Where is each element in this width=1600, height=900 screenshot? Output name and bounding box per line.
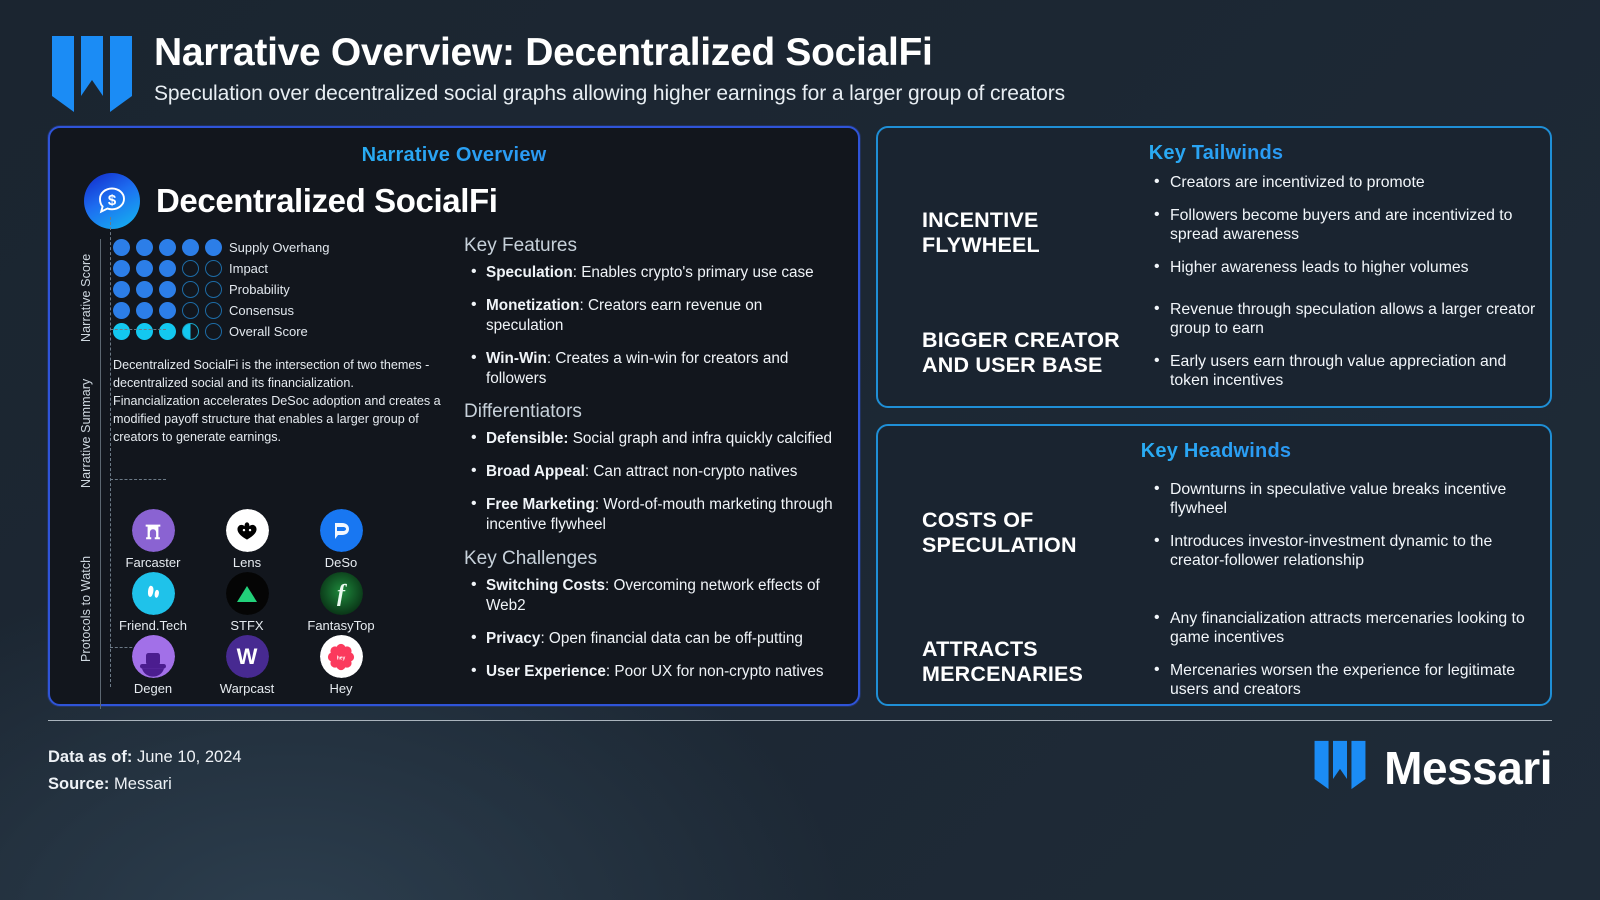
wind-term: COSTS OF SPECULATION <box>896 508 1146 558</box>
wind-term: BIGGER CREATOR AND USER BASE <box>896 328 1146 378</box>
key-headwinds-panel: Key Headwinds COSTS OF SPECULATIONDowntu… <box>876 424 1552 706</box>
feature-list: Speculation: Enables crypto's primary us… <box>464 263 842 388</box>
data-as-of-value: June 10, 2024 <box>137 748 242 766</box>
wind-row: ATTRACTS MERCENARIESAny financialization… <box>896 601 1536 723</box>
rail-connector-lines <box>110 217 180 687</box>
wind-point: Higher awareness leads to higher volumes <box>1150 259 1536 278</box>
narrative-rail: Narrative Score Supply OverhangImpactPro… <box>66 235 452 721</box>
feature-group: DifferentiatorsDefensible: Social graph … <box>464 401 842 535</box>
feature-list-item: Switching Costs: Overcoming network effe… <box>464 576 842 616</box>
feature-group-heading: Differentiators <box>464 401 842 423</box>
score-label: Overall Score <box>229 324 308 339</box>
feature-list: Defensible: Social graph and infra quick… <box>464 429 842 535</box>
footer-meta: Data as of: June 10, 2024 Source: Messar… <box>48 748 242 802</box>
page-subtitle: Speculation over decentralized social gr… <box>154 82 1065 106</box>
score-dot <box>182 323 199 340</box>
protocol-item[interactable]: WWarpcast <box>207 635 287 696</box>
protocol-item[interactable]: heyHey <box>301 635 381 696</box>
feature-term: Win-Win <box>486 350 547 367</box>
content-board: Narrative Overview $ Decentralized Socia… <box>0 126 1600 706</box>
score-label: Supply Overhang <box>229 240 329 255</box>
data-as-of-line: Data as of: June 10, 2024 <box>48 748 242 767</box>
feature-group-heading: Key Challenges <box>464 548 842 570</box>
svg-text:$: $ <box>108 192 117 209</box>
friendtech-icon <box>132 572 175 615</box>
narrative-score-rail-label: Narrative Score <box>76 239 96 357</box>
feature-group: Key FeaturesSpeculation: Enables crypto'… <box>464 235 842 388</box>
wind-term: ATTRACTS MERCENARIES <box>896 637 1146 687</box>
protocol-item[interactable]: fFantasyTop <box>301 572 381 633</box>
wind-points-list: Any financialization attracts mercenarie… <box>1146 610 1536 714</box>
feature-group: Key ChallengesSwitching Costs: Overcomin… <box>464 548 842 682</box>
feature-list-item: Free Marketing: Word-of-mouth marketing … <box>464 495 842 535</box>
feature-text: : Open financial data can be off-putting <box>540 630 803 647</box>
wind-row: BIGGER CREATOR AND USER BASERevenue thro… <box>896 299 1536 407</box>
score-dot <box>182 281 199 298</box>
winds-column: Key Tailwinds INCENTIVE FLYWHEELCreators… <box>876 126 1552 706</box>
narrative-summary-rail-label: Narrative Summary <box>76 357 96 509</box>
narrative-body: Narrative Score Supply OverhangImpactPro… <box>66 235 842 721</box>
wind-points-list: Downturns in speculative value breaks in… <box>1146 481 1536 585</box>
narrative-name: Decentralized SocialFi <box>156 182 498 220</box>
feature-term: Broad Appeal <box>486 463 585 480</box>
feature-text: Social graph and infra quickly calcified <box>568 430 832 447</box>
narrative-feature-groups: Key FeaturesSpeculation: Enables crypto'… <box>456 235 842 721</box>
stfx-icon <box>226 572 269 615</box>
feature-text: : Enables crypto's primary use case <box>573 264 814 281</box>
feature-list-item: Monetization: Creators earn revenue on s… <box>464 296 842 336</box>
protocol-item[interactable]: DeSo <box>301 509 381 570</box>
score-dot <box>205 281 222 298</box>
protocol-name: Warpcast <box>220 681 274 696</box>
score-dot <box>205 302 222 319</box>
score-label: Probability <box>229 282 290 297</box>
key-headwinds-rows: COSTS OF SPECULATIONDownturns in specula… <box>896 465 1536 723</box>
messari-brand: Messari <box>1310 737 1552 798</box>
feature-list-item: Speculation: Enables crypto's primary us… <box>464 263 842 283</box>
score-dot <box>205 260 222 277</box>
key-tailwinds-rows: INCENTIVE FLYWHEELCreators are incentivi… <box>896 167 1536 407</box>
score-dot <box>205 239 222 256</box>
feature-term: Speculation <box>486 264 573 281</box>
source-line: Source: Messari <box>48 775 242 794</box>
lens-icon <box>226 509 269 552</box>
narrative-overview-panel: Narrative Overview $ Decentralized Socia… <box>48 126 860 706</box>
score-dot <box>182 239 199 256</box>
feature-list-item: Defensible: Social graph and infra quick… <box>464 429 842 449</box>
feature-term: Switching Costs <box>486 577 605 594</box>
narrative-overview-column: Narrative Overview $ Decentralized Socia… <box>48 126 860 706</box>
wind-point: Mercenaries worsen the experience for le… <box>1150 662 1536 700</box>
degen-icon <box>132 635 175 678</box>
page-title: Narrative Overview: Decentralized Social… <box>154 32 1065 74</box>
wind-row: INCENTIVE FLYWHEELCreators are incentivi… <box>896 167 1536 299</box>
wind-point: Any financialization attracts mercenarie… <box>1150 610 1536 648</box>
protocols-rail-label: Protocols to Watch <box>76 509 96 709</box>
protocol-name: DeSo <box>325 555 358 570</box>
score-label: Impact <box>229 261 268 276</box>
feature-list: Switching Costs: Overcoming network effe… <box>464 576 842 682</box>
score-dot <box>182 260 199 277</box>
key-tailwinds-panel-title: Key Tailwinds <box>896 136 1536 167</box>
narrative-overview-panel-title: Narrative Overview <box>66 138 842 169</box>
svg-text:hey: hey <box>337 655 346 661</box>
feature-list-item: Broad Appeal: Can attract non-crypto nat… <box>464 462 842 482</box>
warpcast-icon: W <box>226 635 269 678</box>
wind-point: Revenue through speculation allows a lar… <box>1150 301 1536 339</box>
feature-term: Monetization <box>486 297 579 314</box>
messari-wordmark: Messari <box>1384 741 1552 795</box>
deso-icon <box>320 509 363 552</box>
score-label: Consensus <box>229 303 294 318</box>
source-label: Source: <box>48 775 109 793</box>
feature-list-item: Privacy: Open financial data can be off-… <box>464 629 842 649</box>
protocol-item[interactable]: Lens <box>207 509 287 570</box>
score-dot <box>205 323 222 340</box>
protocol-name: Lens <box>233 555 261 570</box>
protocols-grid: FarcasterLensDeSoFriend.TechSTFXfFantasy… <box>113 509 381 696</box>
score-dot <box>182 302 199 319</box>
feature-term: User Experience <box>486 663 606 680</box>
key-tailwinds-panel: Key Tailwinds INCENTIVE FLYWHEELCreators… <box>876 126 1552 408</box>
protocol-name: Hey <box>329 681 352 696</box>
wind-points-list: Creators are incentivized to promoteFoll… <box>1146 174 1536 292</box>
data-as-of-label: Data as of: <box>48 748 132 766</box>
wind-point: Creators are incentivized to promote <box>1150 174 1536 193</box>
protocol-item[interactable]: STFX <box>207 572 287 633</box>
protocol-name: FantasyTop <box>307 618 374 633</box>
messari-m-logo-icon <box>1310 737 1370 798</box>
feature-term: Defensible: <box>486 430 568 447</box>
fantasytop-icon: f <box>320 572 363 615</box>
page-header: Narrative Overview: Decentralized Social… <box>0 0 1600 126</box>
narrative-header: $ Decentralized SocialFi <box>66 169 842 229</box>
wind-row: COSTS OF SPECULATIONDownturns in specula… <box>896 465 1536 601</box>
hey-icon: hey <box>320 635 363 678</box>
wind-points-list: Revenue through speculation allows a lar… <box>1146 301 1536 405</box>
feature-list-item: Win-Win: Creates a win-win for creators … <box>464 349 842 389</box>
wind-point: Early users earn through value appreciat… <box>1150 353 1536 391</box>
wind-point: Followers become buyers and are incentiv… <box>1150 207 1536 245</box>
feature-text: : Poor UX for non-crypto natives <box>606 663 824 680</box>
feature-term: Privacy <box>486 630 540 647</box>
feature-group-heading: Key Features <box>464 235 842 257</box>
key-headwinds-panel-title: Key Headwinds <box>896 434 1536 465</box>
feature-text: : Can attract non-crypto natives <box>585 463 798 480</box>
protocol-name: STFX <box>230 618 263 633</box>
wind-point: Introduces investor-investment dynamic t… <box>1150 533 1536 571</box>
feature-list-item: User Experience: Poor UX for non-crypto … <box>464 662 842 682</box>
wind-term: INCENTIVE FLYWHEEL <box>896 208 1146 258</box>
farcaster-icon <box>132 509 175 552</box>
source-value: Messari <box>114 775 172 793</box>
messari-m-logo-icon <box>48 30 136 118</box>
feature-term: Free Marketing <box>486 496 595 513</box>
wind-point: Downturns in speculative value breaks in… <box>1150 481 1536 519</box>
